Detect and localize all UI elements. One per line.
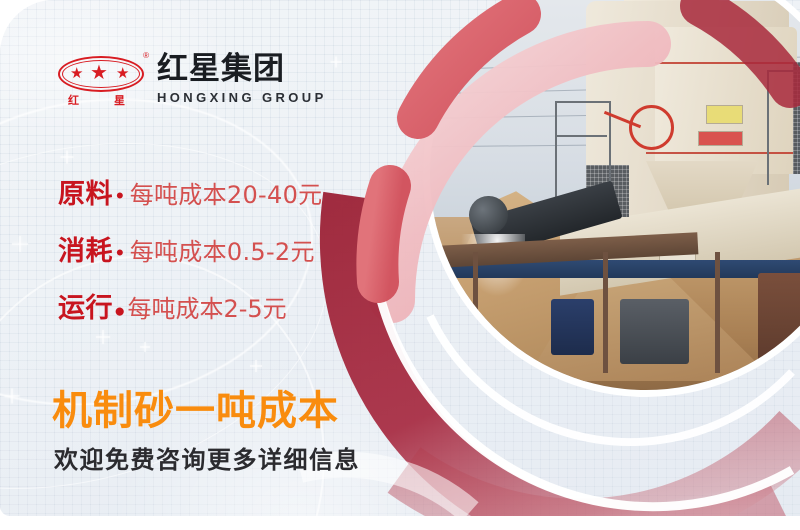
bullet-icon: • xyxy=(116,185,124,207)
star-icon: ★ xyxy=(116,66,129,81)
list-item: 运行 ● 每吨成本2-5元 xyxy=(58,286,322,325)
headline: 机制砂一吨成本 xyxy=(52,378,339,436)
list-item: 原料 • 每吨成本20-40元 xyxy=(58,172,322,211)
star-icon: ★ xyxy=(70,66,83,81)
logo-mark-char-right: 星 xyxy=(114,92,125,108)
list-item: 消耗 • 每吨成本0.5-2元 xyxy=(58,229,322,268)
promo-banner: ★ ★ ★ ® 红 星 红星集团 HONGXING GROUP 原料 • 每吨成… xyxy=(0,0,800,530)
cost-label: 消耗 xyxy=(58,229,113,268)
logo-mark-char-left: 红 xyxy=(68,92,79,108)
cost-value: 每吨成本20-40元 xyxy=(130,175,323,210)
banner-content: ★ ★ ★ ® 红 星 红星集团 HONGXING GROUP 原料 • 每吨成… xyxy=(0,0,800,516)
cost-value: 每吨成本2-5元 xyxy=(127,289,286,324)
brand-name-en: HONGXING GROUP xyxy=(157,90,327,105)
star-icon: ★ xyxy=(90,63,108,83)
registered-mark: ® xyxy=(143,51,149,60)
brand-logo[interactable]: ★ ★ ★ ® 红 星 红星集团 HONGXING GROUP xyxy=(58,52,327,108)
cost-label: 原料 xyxy=(58,172,113,211)
subheadline: 欢迎免费咨询更多详细信息 xyxy=(54,440,360,475)
bullet-icon: ● xyxy=(114,302,125,321)
three-stars-oval-icon: ★ ★ ★ ® 红 星 xyxy=(58,52,146,108)
cost-list: 原料 • 每吨成本20-40元 消耗 • 每吨成本0.5-2元 运行 ● 每吨成… xyxy=(58,172,322,343)
bullet-icon: • xyxy=(116,242,124,264)
banner-card: ★ ★ ★ ® 红 星 红星集团 HONGXING GROUP 原料 • 每吨成… xyxy=(0,0,800,516)
cost-label: 运行 xyxy=(58,286,113,325)
brand-name-cn: 红星集团 xyxy=(157,54,327,85)
cost-value: 每吨成本0.5-2元 xyxy=(130,232,315,267)
